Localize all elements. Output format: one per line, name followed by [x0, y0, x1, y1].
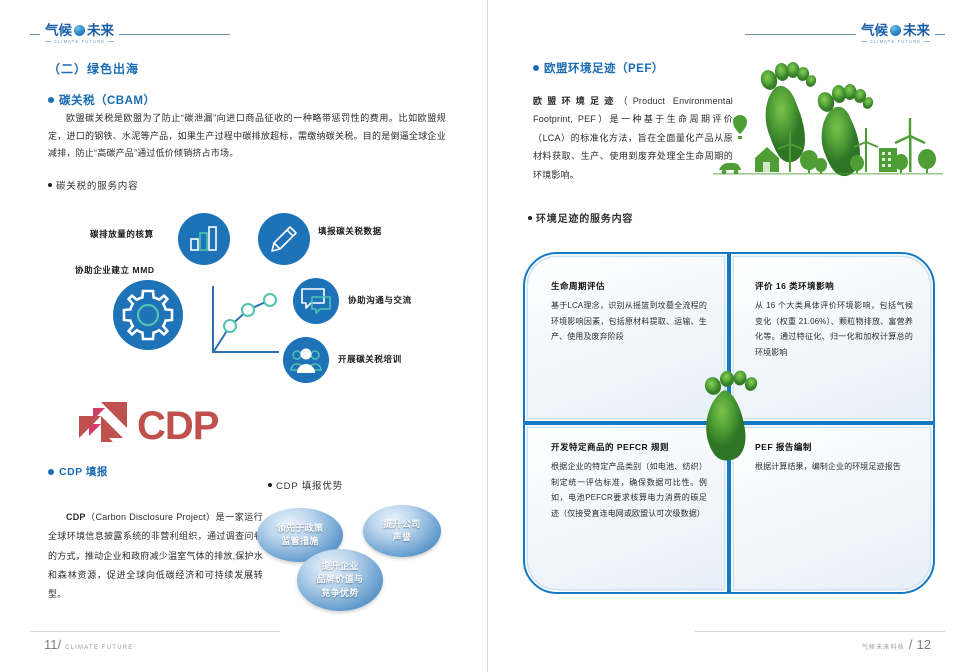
heading-cdp-advantages-label: CDP 填报优势 — [276, 478, 343, 492]
line-chart-icon — [205, 282, 283, 364]
logo-en-wrap-right: CLIMATE FUTURE — [861, 38, 930, 45]
heading-cdp-filing: CDP 填报 — [48, 464, 108, 479]
cdp-wordmark: CDP — [137, 406, 218, 446]
heading-cbam-services-label: 碳关税的服务内容 — [56, 178, 138, 192]
pef-services-quadrants: 生命周期评估 基于LCA理念，识别从摇篮到坟墓全流程的环境影响因素，包括原材料提… — [523, 252, 935, 594]
footprint-left — [758, 62, 818, 162]
page-left: 气候 未来 CLIMATE FUTURE （二）绿色出海 碳关税（CBAM） 欧… — [0, 0, 487, 672]
logo-mark: 气候 未来 CLIMATE FUTURE — [45, 24, 114, 44]
section-title-green-export: （二）绿色出海 — [48, 60, 139, 77]
quadrant-bl-body: 根据企业的特定产品类别（如电池、纺织）制定统一评估标准，确保数据可比性。例如，电… — [551, 459, 707, 521]
cdp-advantage-oval-2: 提升公司 声誉 — [363, 505, 441, 557]
logo-text-en-right: CLIMATE FUTURE — [870, 39, 921, 44]
logo-cn-part1-right: 气候 — [861, 24, 888, 38]
service-icon-pencil — [258, 213, 310, 265]
quadrant-bl-title: 开发特定商品的 PEFCR 规则 — [551, 441, 707, 453]
pencil-icon — [269, 224, 299, 254]
heading-pef-services-label: 环境足迹的服务内容 — [536, 210, 633, 225]
footer-label: CLIMATE FUTURE — [65, 645, 133, 651]
speech-bubble-icon — [300, 287, 332, 315]
logo-en-rule-left — [45, 41, 51, 42]
heading-cdp-filing-label: CDP 填报 — [59, 464, 108, 479]
footer-page-number-right: 12 — [917, 637, 931, 652]
service-icon-gear — [113, 280, 183, 350]
bar-chart-icon — [189, 226, 219, 252]
logo-cn-part2: 未来 — [87, 24, 114, 38]
brand-logo-right: 气候 未来 CLIMATE FUTURE — [745, 24, 945, 44]
globe-icon-right — [890, 25, 901, 36]
quadrant-tr-body: 从 16 个大类具体评价环境影响，包括气候变化（权重 21.06%）、颗粒物排放… — [755, 298, 913, 360]
document-spread: 气候 未来 CLIMATE FUTURE （二）绿色出海 碳关税（CBAM） 欧… — [0, 0, 975, 672]
cbam-paragraph: 欧盟碳关税是欧盟为了防止“碳泄漏”向进口商品征收的一种略带惩罚性的费用。比如欧盟… — [48, 110, 446, 163]
quadrant-tl-body: 基于LCA理念，识别从摇篮到坟墓全流程的环境影响因素，包括原材料提取、运输、生产… — [551, 298, 707, 345]
cdp-description-lead: CDP — [66, 512, 86, 522]
heading-cbam-services: 碳关税的服务内容 — [48, 178, 138, 192]
logo-rule-left-r — [745, 34, 856, 35]
heading-pef-services: 环境足迹的服务内容 — [528, 210, 633, 225]
heading-pef: 欧盟环境足迹（PEF） — [533, 60, 664, 76]
footer-right: 气候未来科技 / 12 — [862, 637, 931, 652]
footer-page-number: 11/ — [44, 637, 61, 652]
heading-cbam-label: 碳关税（CBAM） — [59, 92, 156, 108]
service-icon-people — [283, 337, 329, 383]
logo-rule-left — [30, 34, 40, 35]
quadrant-tr-title: 评价 16 类环境影响 — [755, 280, 913, 292]
green-footprint-center-icon — [689, 368, 767, 464]
footer-separator: / — [909, 637, 913, 652]
page-right: 气候 未来 CLIMATE FUTURE 欧盟环境足迹（PEF） 欧盟环境足迹（… — [488, 0, 975, 672]
globe-icon — [74, 25, 85, 36]
pef-paragraph: 欧盟环境足迹（Product Environmental Footprint, … — [533, 92, 733, 184]
logo-rule-end — [935, 34, 945, 35]
footer-label-right: 气候未来科技 — [862, 642, 905, 651]
cdp-advantage-oval-3: 提升企业 品牌价值与 竞争优势 — [297, 549, 383, 611]
service-label-bar-chart: 碳排放量的核算 — [90, 228, 154, 240]
cdp-description-paren: （Carbon Disclosure Project） — [86, 512, 216, 522]
logo-mark-right: 气候 未来 CLIMATE FUTURE — [861, 24, 930, 44]
heading-cbam: 碳关税（CBAM） — [48, 92, 156, 108]
quadrant-br-body: 根据计算结果，编制企业的环境足迹报告 — [755, 459, 913, 475]
footer-rule-right — [695, 631, 945, 632]
service-label-people: 开展碳关税培训 — [338, 353, 402, 365]
logo-en-rule-right-r — [924, 41, 930, 42]
footer-left: 11/ CLIMATE FUTURE — [44, 637, 133, 652]
quadrant-br-title: PEF 报告编制 — [755, 441, 913, 453]
logo-text-en: CLIMATE FUTURE — [54, 39, 105, 44]
cdp-mark-icon — [75, 400, 137, 452]
service-label-pencil: 填报碳关税数据 — [318, 225, 382, 237]
service-icon-speech-bubble — [293, 278, 339, 324]
people-icon — [290, 346, 322, 374]
service-label-gear: 协助企业建立 MMD — [75, 264, 155, 276]
pef-paragraph-lead: 欧盟环境足迹 — [533, 96, 618, 106]
logo-cn-part1: 气候 — [45, 24, 72, 38]
cdp-description: CDP（Carbon Disclosure Project）是一家运行全球环境信… — [48, 508, 263, 605]
cdp-logo: CDP — [75, 400, 218, 452]
green-footprints-eco-landscape-icon — [713, 48, 943, 183]
heading-cdp-advantages: CDP 填报优势 — [268, 478, 343, 492]
logo-en-rule-left-r — [861, 41, 867, 42]
logo-en-wrap: CLIMATE FUTURE — [45, 38, 114, 45]
service-icon-bar-chart — [178, 213, 230, 265]
service-label-speech-bubble: 协助沟通与交流 — [348, 294, 412, 306]
pef-paragraph-rest: （Product Environmental Footprint, PEF）是一… — [533, 96, 733, 180]
quadrant-tl-content: 生命周期评估 基于LCA理念，识别从摇篮到坟墓全流程的环境影响因素，包括原材料提… — [525, 254, 727, 355]
heading-pef-label: 欧盟环境足迹（PEF） — [544, 60, 664, 76]
logo-text-cn: 气候 未来 — [45, 24, 114, 38]
logo-cn-part2-right: 未来 — [903, 24, 930, 38]
footer-rule-left — [30, 631, 280, 632]
logo-text-cn-right: 气候 未来 — [861, 24, 930, 38]
cdp-description-rest: 是一家运行全球环境信息披露系统的非营利组织，通过调查问卷的方式，推动企业和政府减… — [48, 512, 263, 599]
quadrant-tl-title: 生命周期评估 — [551, 280, 707, 292]
quadrant-tr-content: 评价 16 类环境影响 从 16 个大类具体评价环境影响，包括气候变化（权重 2… — [731, 254, 933, 370]
gear-icon — [120, 287, 176, 343]
brand-logo-left: 气候 未来 CLIMATE FUTURE — [30, 24, 230, 44]
logo-en-rule-right — [108, 41, 114, 42]
logo-rule-right — [119, 34, 230, 35]
